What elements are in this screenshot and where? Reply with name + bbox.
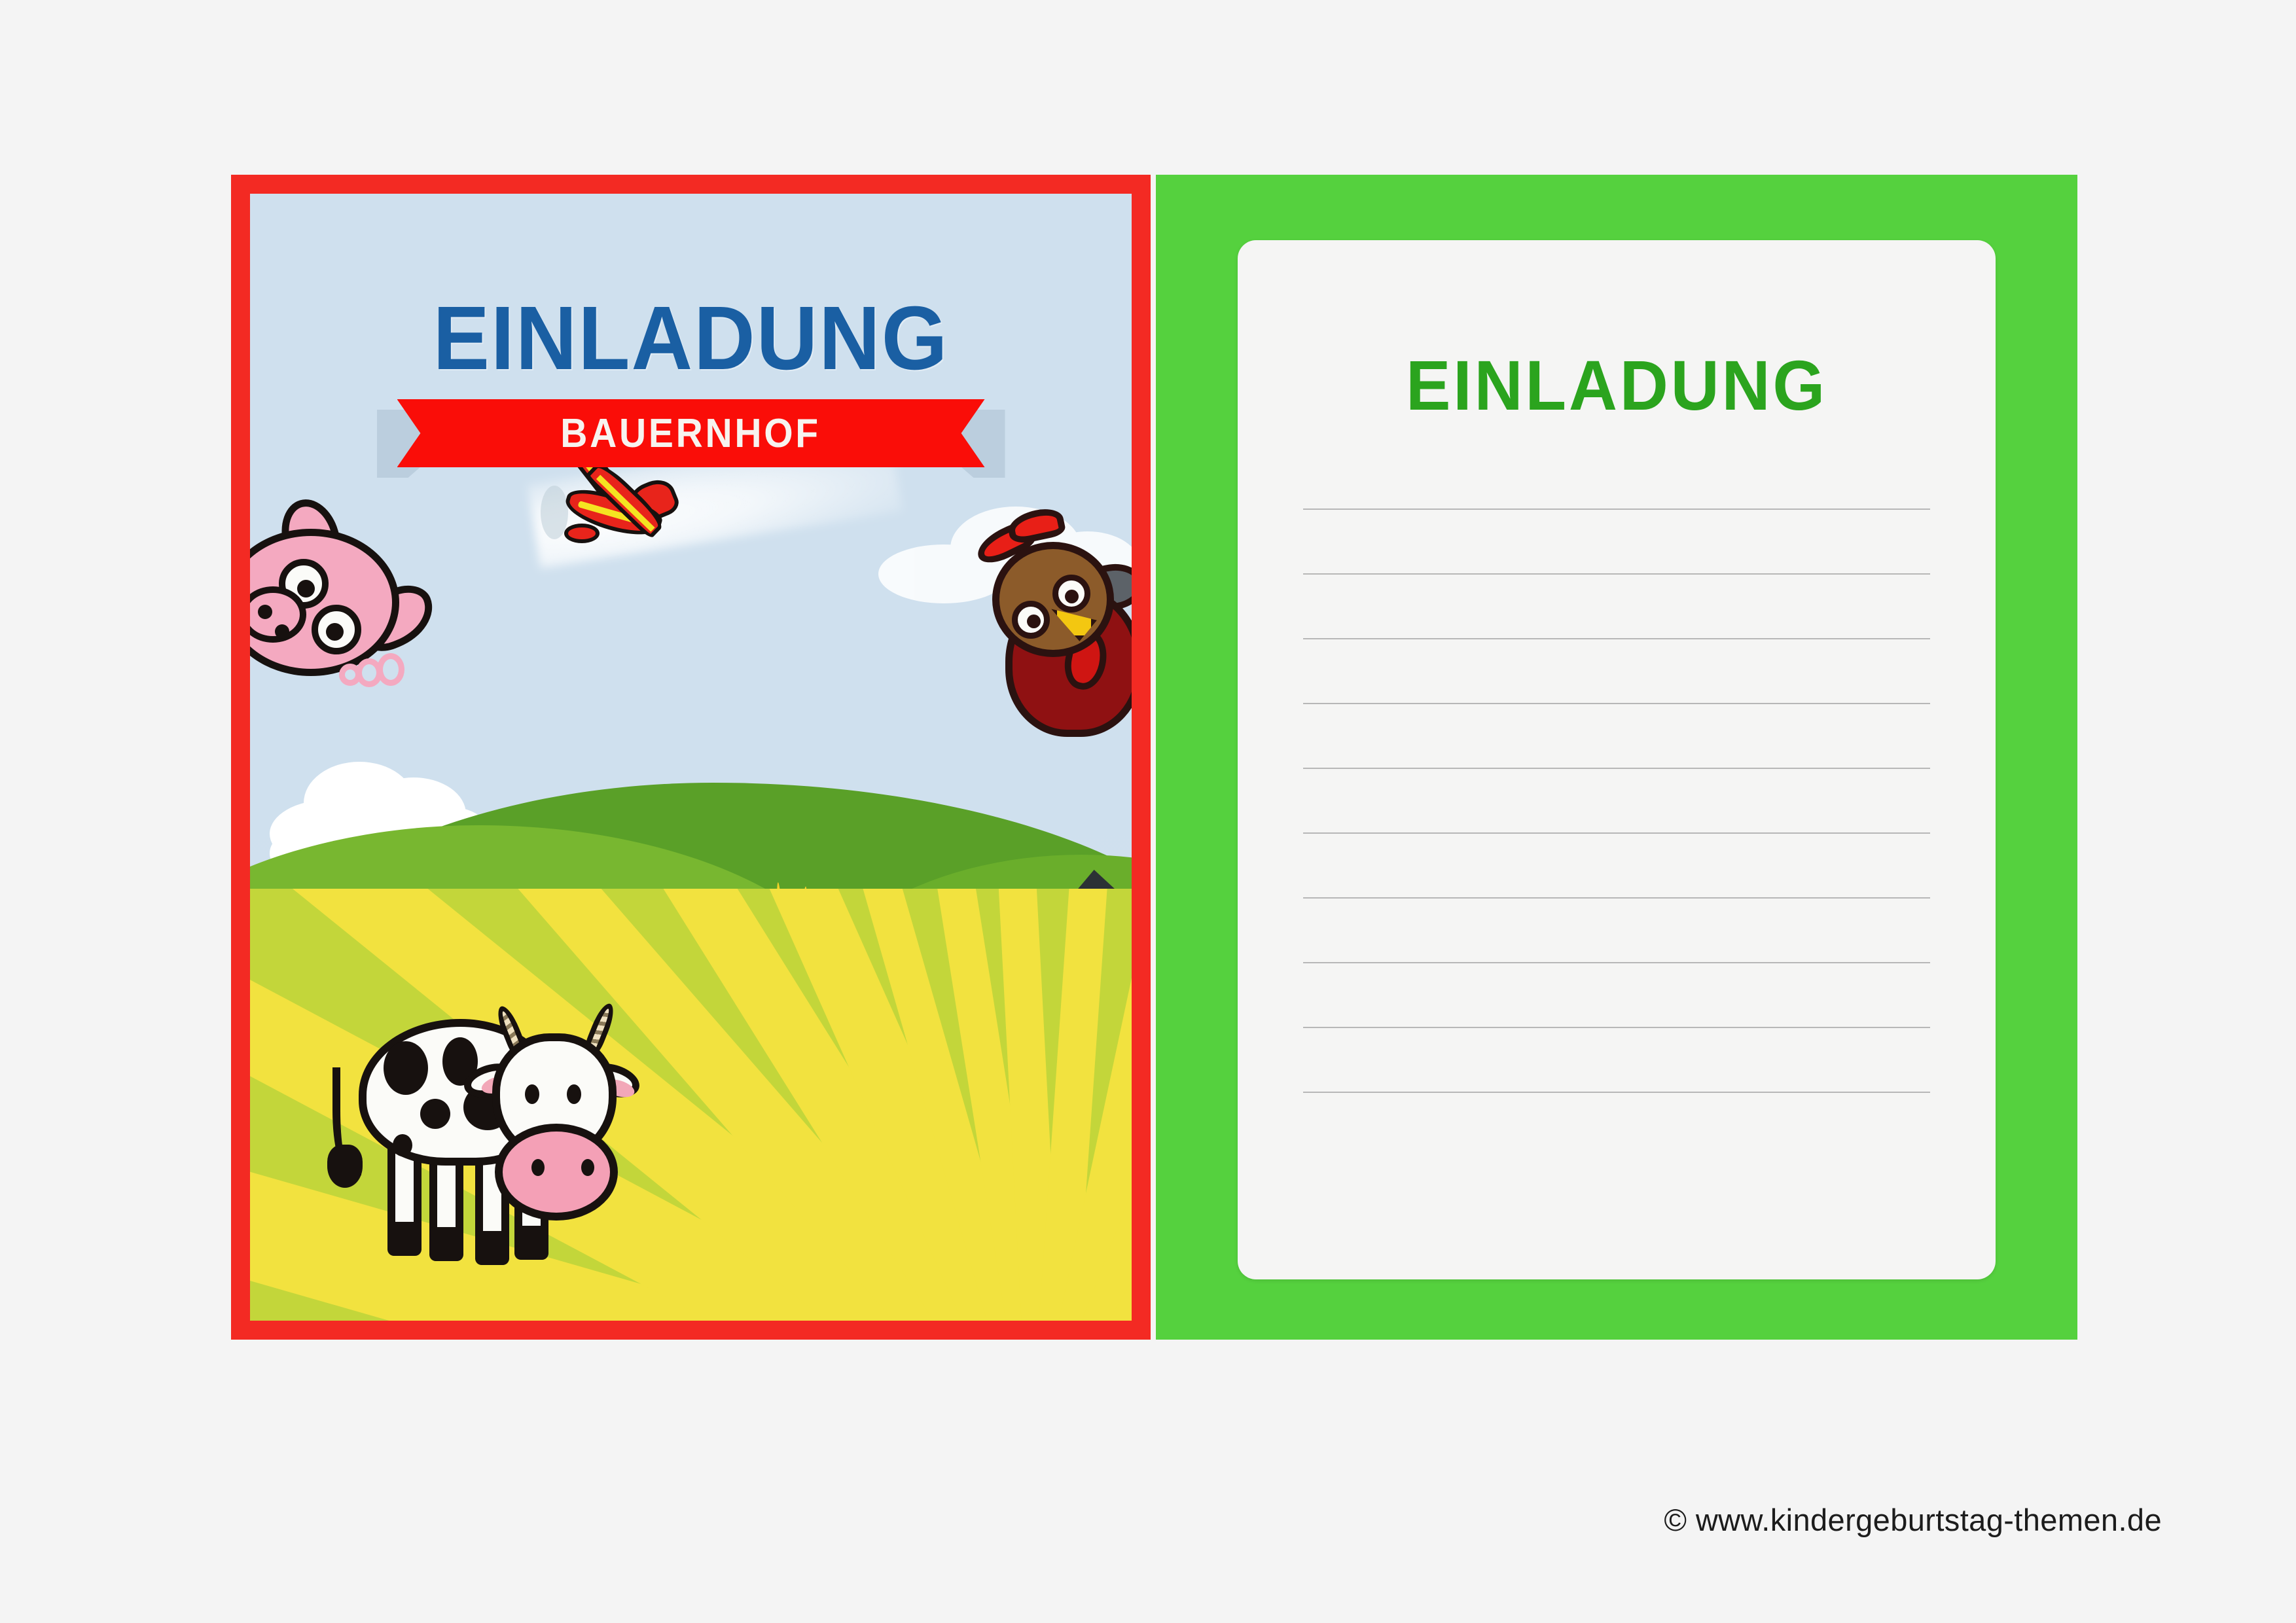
pig-icon <box>250 501 445 698</box>
rooster-eye <box>1012 601 1050 639</box>
pig-tail <box>339 652 418 691</box>
ribbon: BAUERNHOF <box>397 399 985 467</box>
invitation-page: EINLADUNG BAUERNHOF EINLADUNG <box>0 0 2296 1623</box>
writing-paper: EINLADUNG <box>1238 240 1996 1279</box>
write-line[interactable] <box>1303 573 1930 575</box>
pig-nostril <box>275 624 289 639</box>
write-line[interactable] <box>1303 897 1930 899</box>
cow-icon <box>327 969 641 1277</box>
pig-pupil <box>326 623 344 641</box>
write-line[interactable] <box>1303 832 1930 834</box>
plane-landing-gear <box>564 524 600 543</box>
rooster-pupil <box>1027 615 1041 628</box>
cow-hoof <box>514 1226 548 1260</box>
write-line[interactable] <box>1303 1027 1930 1028</box>
ribbon-banner: BAUERNHOF <box>250 399 1132 478</box>
rooster-comb <box>1005 505 1067 546</box>
write-line[interactable] <box>1303 703 1930 704</box>
front-title-block: EINLADUNG BAUERNHOF <box>250 293 1132 478</box>
cow-spot <box>384 1041 428 1095</box>
ribbon-label: BAUERNHOF <box>561 410 821 457</box>
cow-nostril <box>581 1159 594 1176</box>
rooster-pupil <box>1065 590 1079 603</box>
front-card-artwork: EINLADUNG BAUERNHOF <box>250 194 1132 1321</box>
writing-lines <box>1303 508 1930 1093</box>
write-line[interactable] <box>1303 962 1930 963</box>
rooster-icon <box>982 501 1132 737</box>
page-title: EINLADUNG <box>276 293 1105 383</box>
cow-spot <box>420 1099 450 1129</box>
front-card: EINLADUNG BAUERNHOF <box>231 175 1151 1340</box>
write-line[interactable] <box>1303 638 1930 639</box>
inside-card: EINLADUNG <box>1156 175 2077 1340</box>
cow-hoof <box>429 1227 463 1261</box>
inside-title: EINLADUNG <box>1257 350 1977 421</box>
cow-eye <box>525 1084 539 1104</box>
write-line[interactable] <box>1303 768 1930 769</box>
cow-spot <box>393 1134 412 1156</box>
cow-nostril <box>531 1159 545 1176</box>
cow-hoof <box>475 1231 509 1265</box>
pig-pupil <box>297 580 315 597</box>
cow-hoof <box>387 1222 422 1256</box>
rooster-eye <box>1052 575 1090 613</box>
cow-muzzle <box>495 1124 618 1221</box>
pig-eye <box>312 605 361 654</box>
pig-nostril <box>258 605 272 619</box>
cow-eye <box>567 1084 581 1104</box>
cow-tail-tuft <box>327 1145 363 1188</box>
write-line[interactable] <box>1303 508 1930 510</box>
write-line[interactable] <box>1303 1092 1930 1093</box>
copyright-notice: © www.kindergeburtstag-themen.de <box>1664 1502 2162 1538</box>
